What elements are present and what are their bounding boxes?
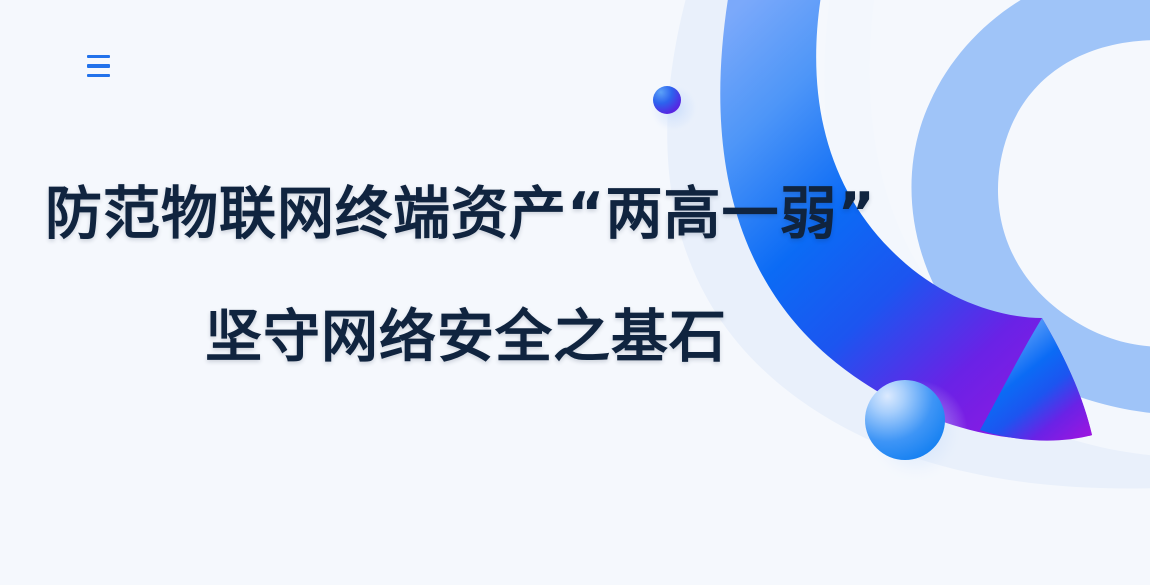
- hamburger-menu-button[interactable]: [80, 48, 116, 84]
- hamburger-bar-top: [87, 55, 110, 59]
- slide-title-line-2: 坚守网络安全之基石: [0, 309, 880, 366]
- large-blue-sphere: [864, 380, 968, 484]
- slide-canvas: 防范物联网终端资产“两高一弱” 坚守网络安全之基石: [0, 0, 1150, 585]
- light-blue-arc: [911, 0, 1150, 424]
- small-gradient-sphere: [648, 82, 700, 134]
- slide-title-block: 防范物联网终端资产“两高一弱” 坚守网络安全之基石: [0, 186, 880, 366]
- hamburger-bar-bottom: [87, 74, 110, 78]
- hamburger-bar-middle: [87, 64, 110, 68]
- slide-title-line-1: 防范物联网终端资产“两高一弱”: [0, 186, 880, 243]
